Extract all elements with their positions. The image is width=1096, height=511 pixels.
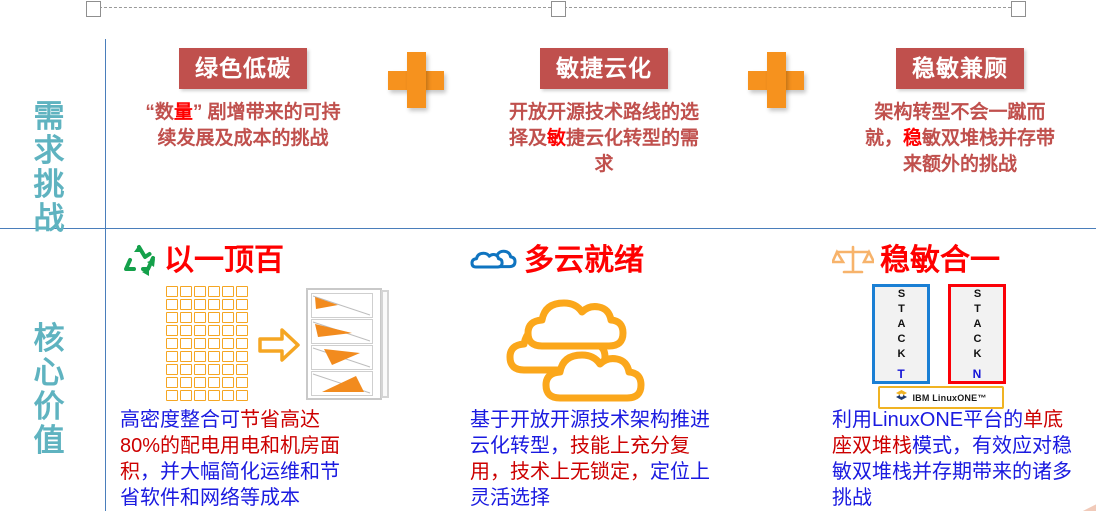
server-unit-square xyxy=(236,299,248,310)
value-header-3: 稳敏合一 xyxy=(832,240,1096,282)
server-unit-square xyxy=(236,325,248,336)
selection-dashed-line-left xyxy=(99,7,551,8)
sidebar-label-demand-challenge: 需 求 挑 战 xyxy=(16,100,82,236)
server-unit-square xyxy=(208,390,220,401)
linuxone-label: IBM LinuxONE™ xyxy=(912,393,986,403)
server-unit-square xyxy=(208,299,220,310)
value-title-3: 稳敏合一 xyxy=(880,244,1000,278)
value-text-2: 基于开放开源技术架构推进云化转型，技能上充分复用，技术上无锁定，定位上灵活选择 xyxy=(470,407,720,511)
server-unit-square xyxy=(222,312,234,323)
text-run: 捷云化转型的需求 xyxy=(566,128,699,175)
sidebar-char: 需 xyxy=(16,100,82,134)
challenge-column-1: 绿色低碳 “数量” 剧增带来的可持续发展及成本的挑战 xyxy=(143,48,343,152)
server-unit-square xyxy=(194,390,206,401)
server-unit-square xyxy=(208,312,220,323)
server-unit-square xyxy=(222,286,234,297)
selection-bar xyxy=(0,0,1096,22)
server-unit-square xyxy=(222,364,234,375)
value-text-3: 利用LinuxONE平台的单底座双堆栈模式，有效应对稳敏双堆栈并存期带来的诸多挑… xyxy=(832,407,1074,511)
value-header-1: 以一顶百 xyxy=(120,240,410,282)
server-unit-square xyxy=(166,390,178,401)
server-unit-square xyxy=(208,364,220,375)
selection-handle-center[interactable] xyxy=(551,1,566,17)
value-text-1: 高密度整合可节省高达80%的配电用电和机房面积，并大幅简化运维和节省软件和网络等… xyxy=(120,407,352,511)
server-unit-square xyxy=(194,377,206,388)
text-run: 敏双堆栈并存带来额外的挑战 xyxy=(903,128,1055,175)
vertical-divider-bottom xyxy=(105,229,106,511)
server-unit-square xyxy=(180,312,192,323)
sidebar-char: 挑 xyxy=(16,168,82,202)
server-unit-square xyxy=(194,351,206,362)
challenge-column-2: 敏捷云化 开放开源技术路线的选择及敏捷云化转型的需求 xyxy=(504,48,704,178)
server-unit-square xyxy=(222,299,234,310)
server-unit-square xyxy=(222,325,234,336)
sidebar-char: 战 xyxy=(16,202,82,236)
rack-slot xyxy=(311,319,373,344)
plus-icon-2 xyxy=(748,52,804,108)
server-unit-square xyxy=(208,377,220,388)
server-unit-square xyxy=(166,338,178,349)
linuxone-platform-bar: IBM LinuxONE™ xyxy=(878,386,1004,409)
server-unit-square xyxy=(180,299,192,310)
plus-bar-vertical xyxy=(767,52,786,108)
stack-word: STACK xyxy=(972,288,983,363)
three-clouds-diagram xyxy=(506,284,696,415)
text-run: 敏 xyxy=(547,128,566,149)
server-square-grid xyxy=(166,286,248,401)
text-run: “数 xyxy=(145,102,174,123)
recycle-icon xyxy=(120,242,158,281)
slide-canvas: 需 求 挑 战 核 心 价 值 绿色低碳 “数量” 剧增带来的可持续发展及成本的… xyxy=(0,0,1096,511)
server-unit-square xyxy=(180,286,192,297)
stack-letter: T xyxy=(897,367,904,381)
server-rack xyxy=(306,288,382,400)
server-unit-square xyxy=(180,390,192,401)
text-run: 利用LinuxONE平台的 xyxy=(832,409,1023,431)
text-run: 量 xyxy=(174,102,193,123)
value-header-2: 多云就绪 xyxy=(470,240,760,282)
rack-slot xyxy=(311,293,373,318)
server-unit-square xyxy=(194,312,206,323)
challenge-desc-2: 开放开源技术路线的选择及敏捷云化转型的需求 xyxy=(504,100,704,178)
server-unit-square xyxy=(194,286,206,297)
server-unit-square xyxy=(222,338,234,349)
rack-slot xyxy=(311,371,373,396)
server-unit-square xyxy=(236,286,248,297)
server-unit-square xyxy=(236,351,248,362)
server-unit-square xyxy=(180,338,192,349)
sidebar-char: 心 xyxy=(16,356,82,390)
server-unit-square xyxy=(166,364,178,375)
server-unit-square xyxy=(180,325,192,336)
sidebar-char: 价 xyxy=(16,390,82,424)
value-column-1: 以一顶百 xyxy=(120,240,410,430)
stack-word: STACK xyxy=(896,288,907,363)
challenge-badge-green-low-carbon: 绿色低碳 xyxy=(179,48,307,89)
selection-handle-left[interactable] xyxy=(86,1,101,17)
balance-scale-icon xyxy=(832,242,874,281)
challenge-desc-3: 架构转型不会一蹴而就，稳敏双堆栈并存带来额外的挑战 xyxy=(860,100,1060,178)
server-unit-square xyxy=(166,325,178,336)
server-unit-square xyxy=(180,364,192,375)
server-unit-square xyxy=(180,377,192,388)
server-unit-square xyxy=(208,338,220,349)
server-unit-square xyxy=(208,286,220,297)
value-column-3: 稳敏合一 STACK T STACK N xyxy=(832,240,1096,430)
value-title-1: 以一顶百 xyxy=(164,244,284,278)
sidebar-char: 值 xyxy=(16,424,82,458)
server-unit-square xyxy=(236,377,248,388)
stack-box-t: STACK T xyxy=(872,284,930,384)
server-unit-square xyxy=(194,364,206,375)
server-unit-square xyxy=(222,351,234,362)
server-unit-square xyxy=(208,325,220,336)
sidebar-char: 核 xyxy=(16,322,82,356)
challenge-column-3: 稳敏兼顾 架构转型不会一蹴而就，稳敏双堆栈并存带来额外的挑战 xyxy=(860,48,1060,178)
sidebar-label-core-value: 核 心 价 值 xyxy=(16,322,82,458)
server-unit-square xyxy=(194,338,206,349)
server-unit-square xyxy=(166,312,178,323)
text-run: 高密度整合可 xyxy=(120,409,240,431)
server-unit-square xyxy=(236,390,248,401)
server-unit-square xyxy=(236,338,248,349)
server-unit-square xyxy=(208,351,220,362)
text-run: 稳 xyxy=(903,128,922,149)
transform-arrow-icon xyxy=(258,328,300,367)
server-unit-square xyxy=(236,364,248,375)
selection-dashed-line-right xyxy=(564,7,1011,8)
server-unit-square xyxy=(194,325,206,336)
challenge-badge-stable-agile: 稳敏兼顾 xyxy=(896,48,1024,89)
rack-slot xyxy=(311,345,373,370)
rack-side-panel xyxy=(381,290,389,398)
server-unit-square xyxy=(166,299,178,310)
stack-box-n: STACK N xyxy=(948,284,1006,384)
sidebar-char: 求 xyxy=(16,134,82,168)
server-unit-square xyxy=(166,286,178,297)
stack-letter: N xyxy=(973,367,982,381)
server-unit-square xyxy=(236,312,248,323)
server-unit-square xyxy=(180,351,192,362)
challenge-desc-1: “数量” 剧增带来的可持续发展及成本的挑战 xyxy=(143,100,343,152)
linuxone-logo-icon xyxy=(895,389,908,407)
value-column-2: 多云就绪 xyxy=(470,240,760,430)
vertical-divider-top xyxy=(105,39,106,229)
cloud-icon xyxy=(470,243,518,280)
selection-handle-right[interactable] xyxy=(1011,1,1026,17)
server-unit-square xyxy=(222,390,234,401)
challenge-badge-agile-cloud: 敏捷云化 xyxy=(540,48,668,89)
server-unit-square xyxy=(166,351,178,362)
server-unit-square xyxy=(166,377,178,388)
text-run: ，并大幅简化运维和节省软件和网络等成本 xyxy=(120,461,340,509)
value-title-2: 多云就绪 xyxy=(524,244,644,278)
server-unit-square xyxy=(194,299,206,310)
plus-icon-1 xyxy=(388,52,444,108)
server-unit-square xyxy=(222,377,234,388)
horizontal-divider xyxy=(0,228,1096,229)
plus-bar-vertical xyxy=(407,52,426,108)
